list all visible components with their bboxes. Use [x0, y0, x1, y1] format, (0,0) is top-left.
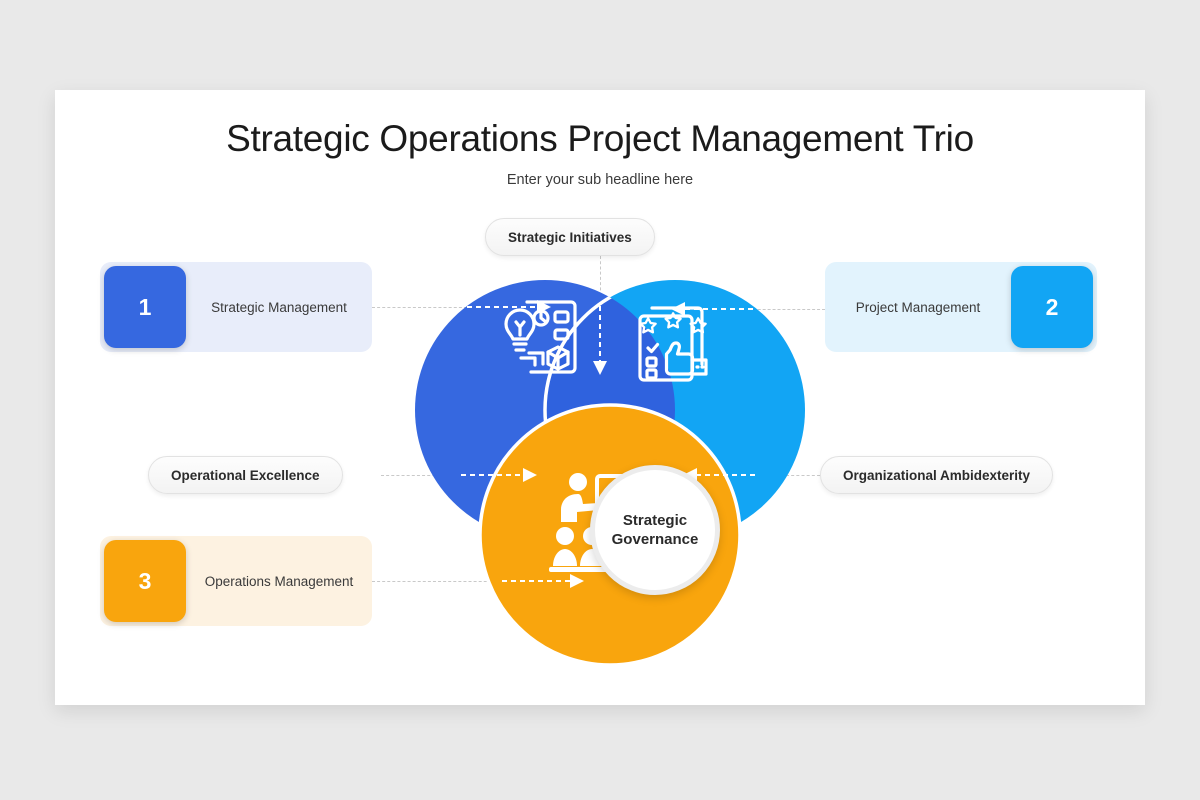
pill-strategic-initiatives[interactable]: Strategic Initiatives: [485, 218, 655, 256]
pill-operational-excellence[interactable]: Operational Excellence: [148, 456, 343, 494]
card-3-number-box: 3: [104, 540, 186, 622]
page-title: Strategic Operations Project Management …: [55, 118, 1145, 160]
center-label: Strategic Governance: [602, 511, 709, 549]
center-label-line1: Strategic: [623, 512, 687, 529]
card-2-number-box: 2: [1011, 266, 1093, 348]
card-1-label: Strategic Management: [186, 300, 372, 315]
venn-diagram: [385, 250, 825, 670]
card-3-label: Operations Management: [186, 574, 372, 589]
card-3-number: 3: [139, 568, 152, 595]
slide-canvas: Strategic Operations Project Management …: [55, 90, 1145, 705]
center-label-line2: Governance: [612, 531, 699, 548]
pill-left-label: Operational Excellence: [171, 468, 320, 483]
pill-top-label: Strategic Initiatives: [508, 230, 632, 245]
card-strategic-management[interactable]: 1 Strategic Management: [100, 262, 372, 352]
card-2-number: 2: [1046, 294, 1059, 321]
pill-organizational-ambidexterity[interactable]: Organizational Ambidexterity: [820, 456, 1053, 494]
card-2-label: Project Management: [825, 300, 1011, 315]
card-project-management[interactable]: Project Management 2: [825, 262, 1097, 352]
card-1-number-box: 1: [104, 266, 186, 348]
center-node[interactable]: Strategic Governance: [590, 465, 720, 595]
card-1-number: 1: [139, 294, 152, 321]
pill-right-label: Organizational Ambidexterity: [843, 468, 1030, 483]
card-operations-management[interactable]: 3 Operations Management: [100, 536, 372, 626]
page-subtitle: Enter your sub headline here: [55, 172, 1145, 188]
